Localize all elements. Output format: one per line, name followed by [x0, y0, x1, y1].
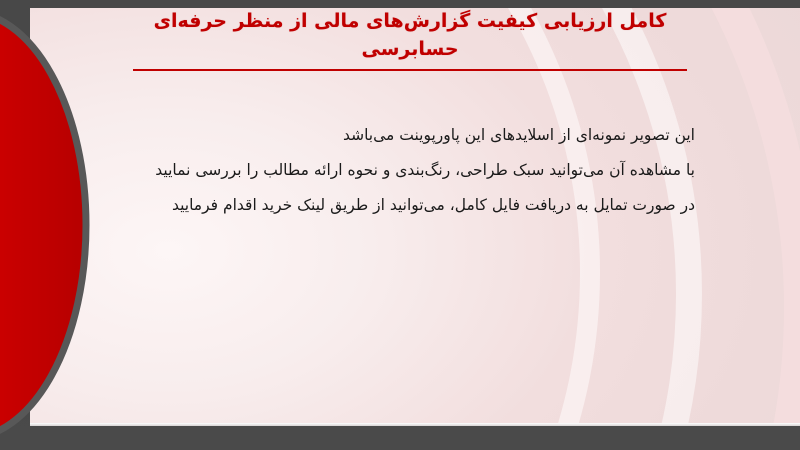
body-line-1: این تصویر نمونه‌ای از اسلایدهای این پاور…: [155, 118, 695, 153]
slide-title-block: کامل ارزیابی کیفیت گزارش‌های مالی از منظ…: [120, 8, 700, 71]
red-oval-decoration: [0, 8, 95, 442]
red-oval-shape: [0, 12, 86, 438]
title-underline-rule: [133, 69, 687, 71]
slide-title: کامل ارزیابی کیفیت گزارش‌های مالی از منظ…: [120, 8, 700, 63]
bottom-edge-highlight: [30, 423, 800, 426]
body-line-2: با مشاهده آن می‌توانید سبک طراحی، رنگ‌بن…: [155, 153, 695, 188]
body-line-3: در صورت تمایل به دریافت فایل کامل، می‌تو…: [155, 188, 695, 223]
presentation-slide: کامل ارزیابی کیفیت گزارش‌های مالی از منظ…: [0, 0, 800, 450]
slide-body-block: این تصویر نمونه‌ای از اسلایدهای این پاور…: [155, 118, 695, 223]
